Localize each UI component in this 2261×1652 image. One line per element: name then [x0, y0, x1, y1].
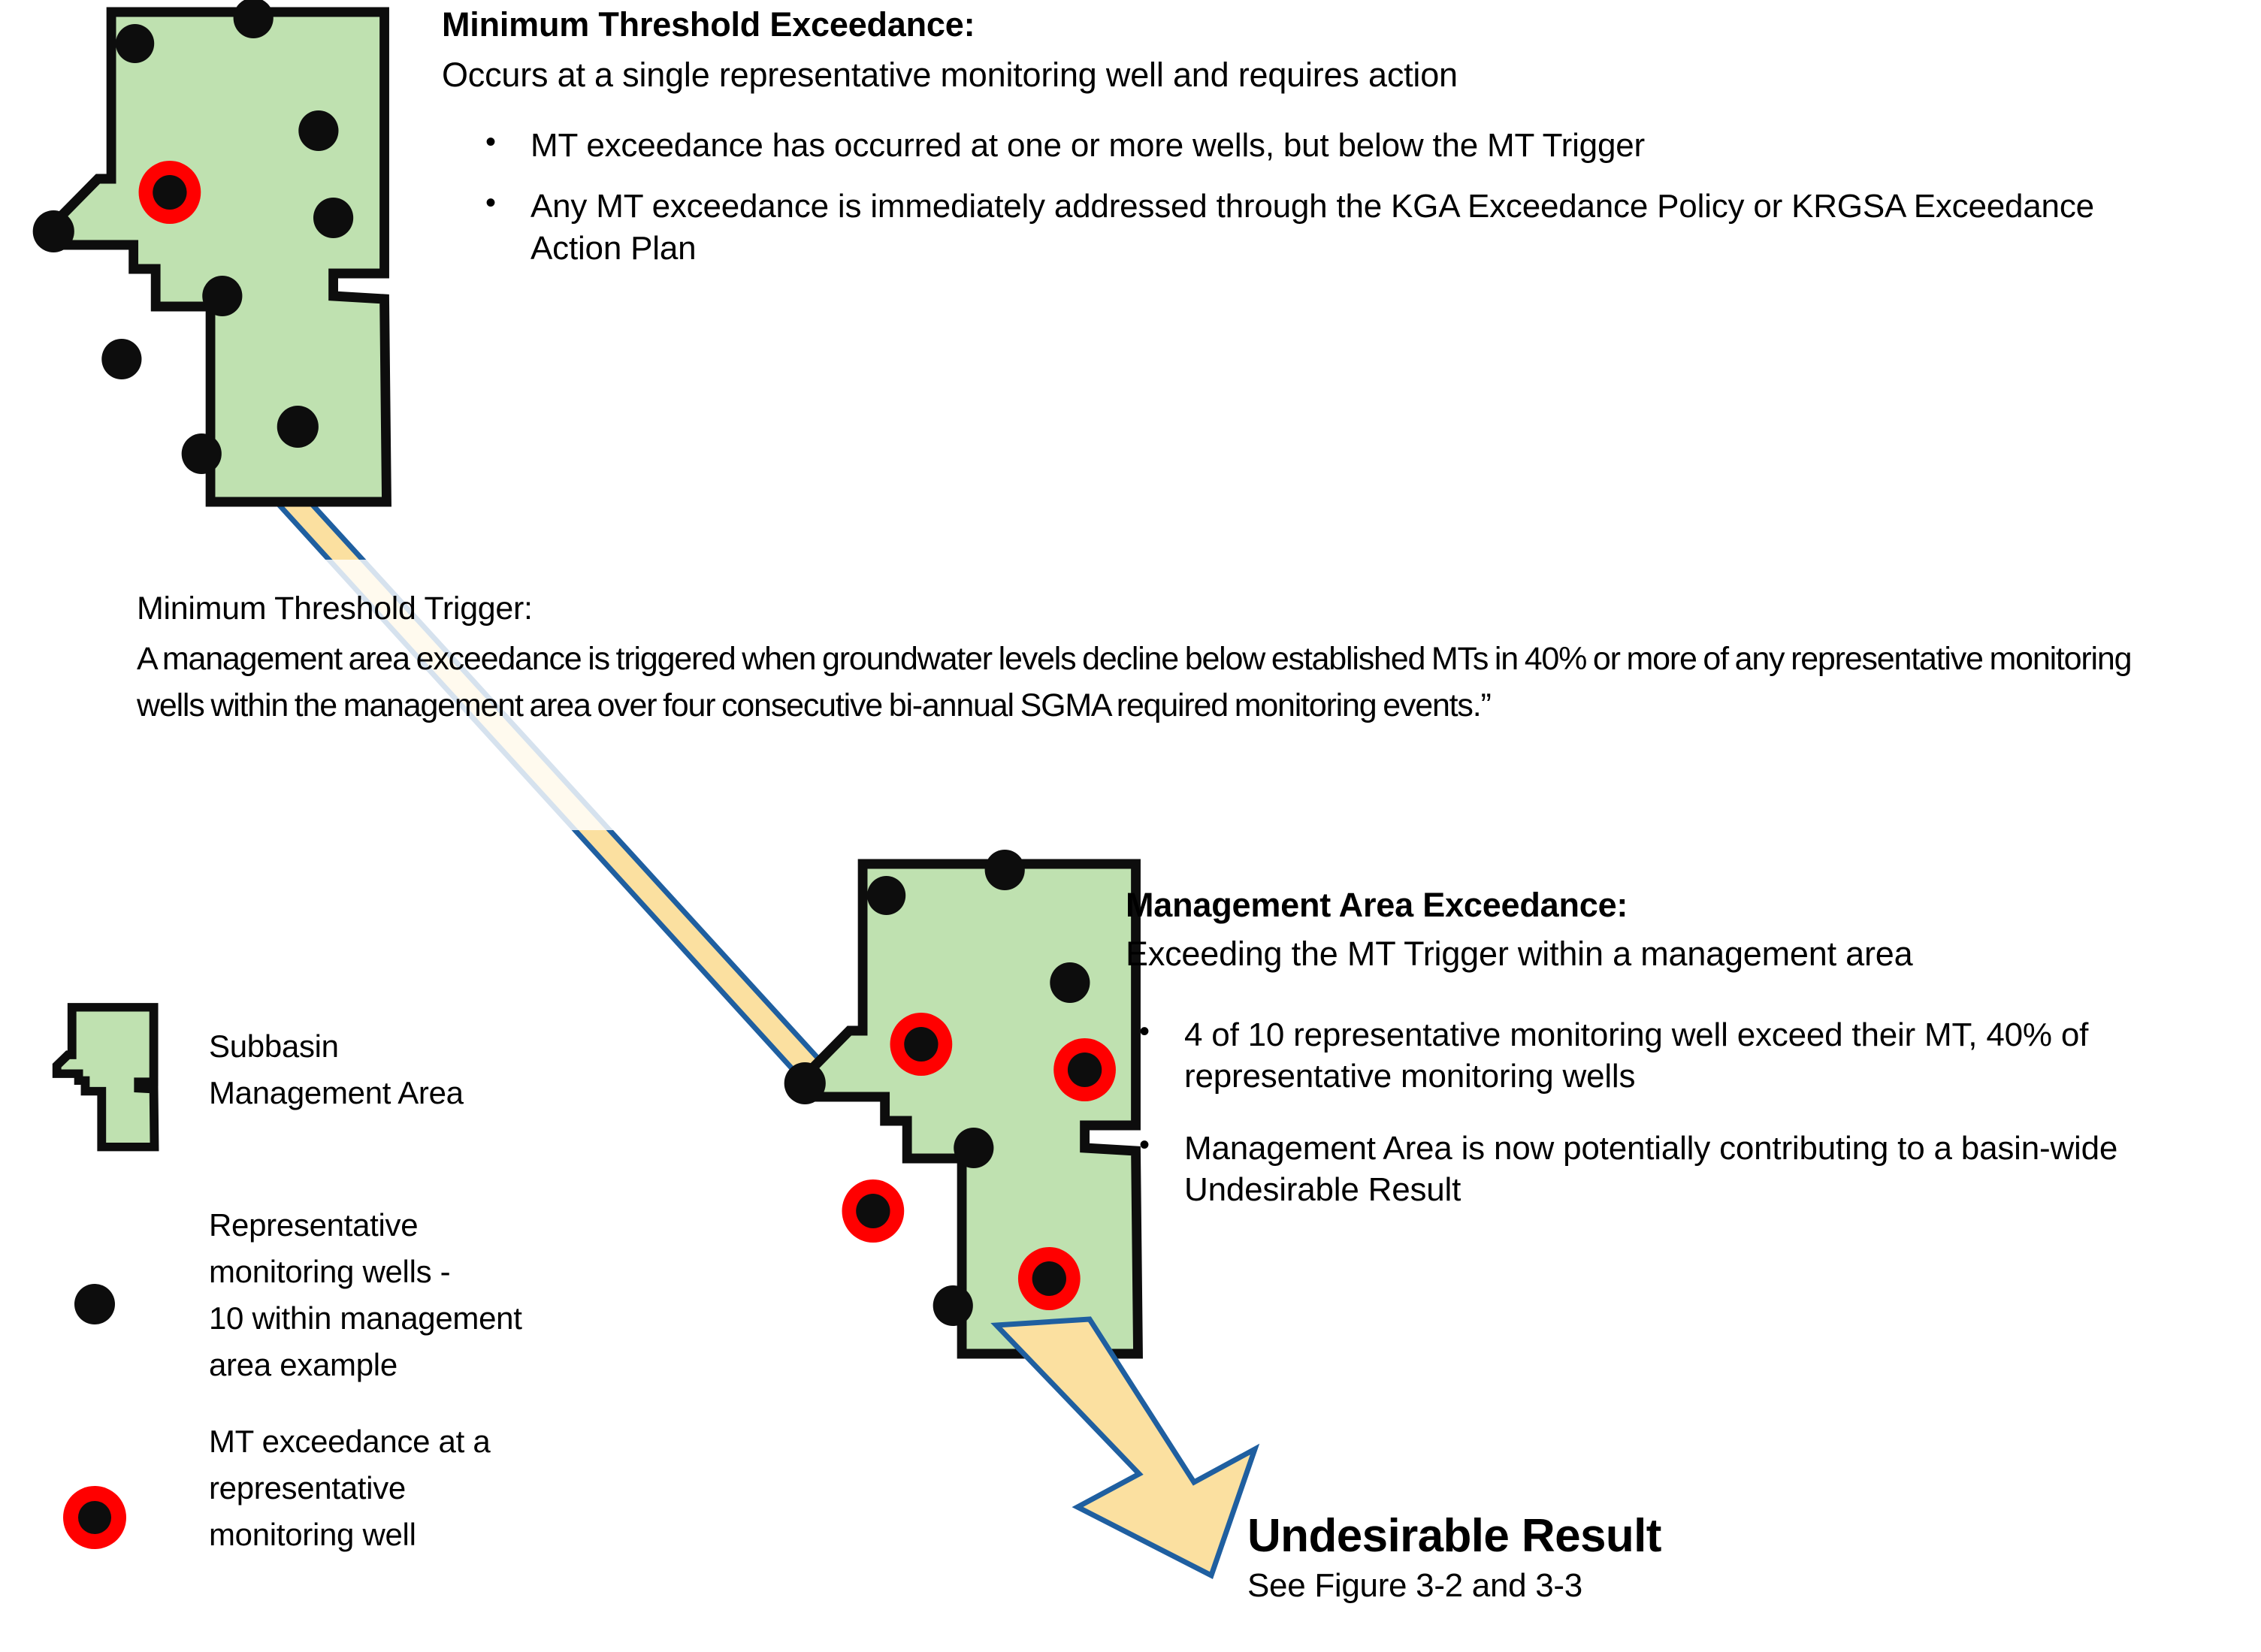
well-dot — [116, 24, 154, 63]
well-dot — [954, 1128, 993, 1168]
legend-item-exceedance: MT exceedance at a representative monito… — [45, 1435, 616, 1615]
mte-title: Minimum Threshold Exceedance: — [442, 5, 2230, 46]
mt-trigger-title: Minimum Threshold Trigger: — [137, 588, 2196, 630]
legend-item-well: Representative monitoring wells - 10 wit… — [45, 1217, 616, 1435]
bullet-marker-icon: • — [1139, 1013, 1150, 1050]
mt-trigger-body: A management area exceedance is triggere… — [137, 636, 2196, 729]
mae-title: Management Area Exceedance: — [1126, 885, 2230, 926]
mae-bullet-2: • Management Area is now potentially con… — [1135, 1128, 2230, 1211]
management-area-exceedance-section: Management Area Exceedance: Exceeding th… — [1126, 885, 2230, 1231]
exceedance-well-dot — [890, 1013, 953, 1076]
exceedance-well-dot — [139, 161, 201, 224]
subbasin-map-bottom — [784, 850, 1138, 1354]
mte-bullet-1: • MT exceedance has occurred at one or m… — [481, 125, 2230, 166]
minimum-threshold-exceedance-section: Minimum Threshold Exceedance: Occurs at … — [442, 5, 2230, 288]
subbasin-polygon-bottom — [812, 864, 1138, 1354]
mte-bullet-list: • MT exceedance has occurred at one or m… — [481, 125, 2230, 269]
mae-bullet-2-text: Management Area is now potentially contr… — [1184, 1130, 2117, 1208]
subbasin-polygon-top — [61, 12, 386, 502]
legend-item-exceedance-label: MT exceedance at a representative monito… — [209, 1418, 490, 1558]
well-dot — [985, 850, 1025, 890]
mae-subtitle: Exceeding the MT Trigger within a manage… — [1126, 934, 2230, 975]
well-dot — [101, 339, 141, 379]
undesirable-result-block: Undesirable Result See Figure 3-2 and 3-… — [1247, 1510, 1661, 1606]
well-dot — [277, 406, 319, 448]
well-dot — [1050, 962, 1090, 1003]
well-dot — [182, 433, 222, 474]
mae-bullet-1-text: 4 of 10 representative monitoring well e… — [1184, 1016, 2088, 1095]
legend-item-well-label: Representative monitoring wells - 10 wit… — [209, 1202, 522, 1389]
subbasin-map-top — [33, 0, 387, 502]
mte-subtitle: Occurs at a single representative monito… — [442, 55, 2230, 96]
mae-bullet-1: • 4 of 10 representative monitoring well… — [1135, 1014, 2230, 1098]
well-dot — [784, 1062, 826, 1104]
mte-bullet-2-text: Any MT exceedance is immediately address… — [530, 188, 2094, 266]
mte-bullet-1-text: MT exceedance has occurred at one or mor… — [530, 127, 1645, 164]
bullet-marker-icon: • — [485, 123, 496, 161]
bullet-marker-icon: • — [485, 184, 496, 222]
mae-bullet-list: • 4 of 10 representative monitoring well… — [1135, 1014, 2230, 1211]
well-dot — [298, 110, 338, 151]
undesirable-result-reference: See Figure 3-2 and 3-3 — [1247, 1566, 1661, 1606]
exceedance-well-dot — [1018, 1247, 1081, 1310]
exceedance-well-dot — [842, 1179, 905, 1243]
legend-item-subbasin-label: Subbasin Management Area — [209, 1023, 464, 1116]
legend: Subbasin Management Area Representative … — [45, 999, 616, 1615]
legend-item-subbasin: Subbasin Management Area — [45, 999, 616, 1217]
mte-bullet-2: • Any MT exceedance is immediately addre… — [481, 186, 2146, 269]
well-dot — [313, 198, 353, 238]
bullet-marker-icon: • — [1139, 1126, 1150, 1164]
well-dot — [33, 210, 74, 252]
undesirable-result-title: Undesirable Result — [1247, 1510, 1661, 1562]
minimum-threshold-trigger-card: Minimum Threshold Trigger: A management … — [113, 560, 2209, 830]
well-dot — [867, 876, 905, 915]
well-dot — [933, 1285, 973, 1326]
well-dot — [202, 276, 242, 316]
exceedance-well-dot — [1053, 1038, 1116, 1101]
diagram-canvas: Minimum Threshold Exceedance: Occurs at … — [0, 0, 2261, 1652]
